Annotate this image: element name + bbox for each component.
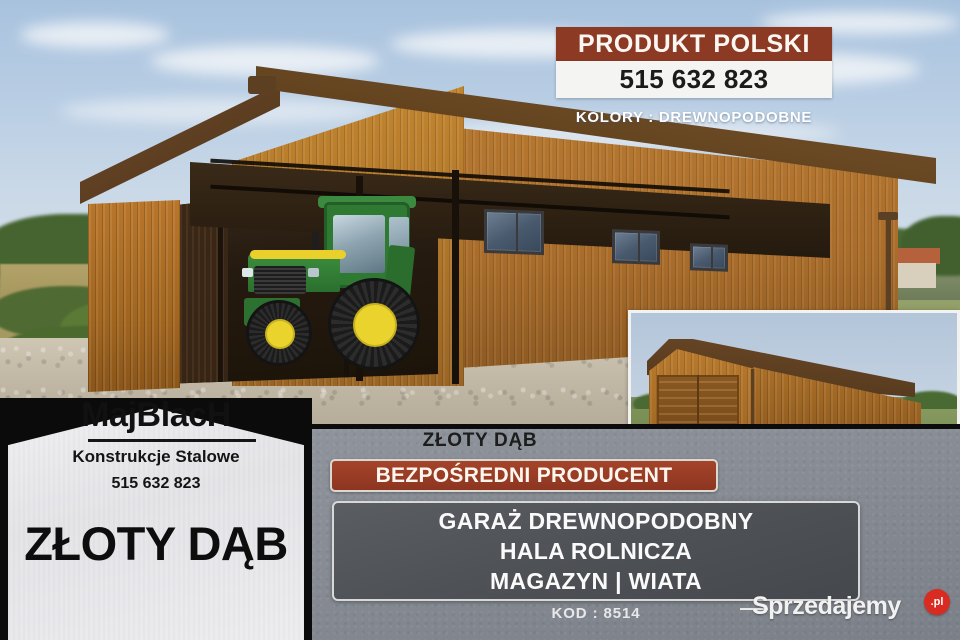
color-name-label: ZŁOTY DĄB: [330, 430, 630, 452]
window-mullion: [638, 233, 640, 261]
watermark-name: Sprzedajemy: [752, 592, 901, 621]
product-list-box: GARAŻ DREWNOPODOBNY HALA ROLNICZA MAGAZY…: [332, 501, 860, 601]
barn-window: [690, 243, 728, 271]
produkt-polski-banner: PRODUKT POLSKI: [556, 27, 832, 61]
window-mullion: [711, 247, 713, 268]
sliding-wood-panel: [88, 200, 180, 392]
produkt-polski-label: PRODUKT POLSKI: [578, 30, 810, 59]
support-post: [452, 170, 459, 384]
tractor-grille: [254, 266, 306, 294]
window-mullion: [516, 213, 518, 251]
tractor-headlight: [308, 268, 319, 277]
roof-ridge: [248, 76, 276, 94]
kolory-caption: KOLORY : DREWNOPODOBNE: [556, 106, 832, 128]
watermark-tld-label: .pl: [931, 596, 944, 608]
phone-banner[interactable]: 515 632 823: [556, 61, 832, 98]
tractor-headlight: [242, 268, 253, 277]
wheel-hub: [265, 319, 295, 349]
tractor-rear-wheel: [328, 278, 420, 370]
barn-window: [612, 229, 660, 265]
tractor-windshield: [333, 215, 385, 273]
product-line-3: MAGAZYN | WIATA: [490, 566, 702, 596]
color-headline: ZŁOTY DĄB: [0, 516, 312, 571]
brand-divider: [88, 439, 256, 442]
tractor-icon: [240, 196, 420, 374]
cloud-icon: [20, 22, 170, 48]
product-line-1: GARAŻ DREWNOPODOBNY: [439, 506, 754, 536]
direct-producer-badge: BEZPOŚREDNI PRODUCENT: [330, 459, 718, 492]
watermark-tld-badge: .pl: [924, 589, 950, 615]
sprzedajemy-watermark: Sprzedajemy .pl: [752, 590, 948, 626]
direct-producer-label: BEZPOŚREDNI PRODUCENT: [376, 464, 673, 488]
tractor-yellow-stripe: [250, 250, 346, 259]
product-line-2: HALA ROLNICZA: [500, 536, 692, 566]
brand-phone[interactable]: 515 632 823: [0, 475, 312, 493]
brand-name: MajBlacH: [0, 396, 312, 435]
phone-number-label: 515 632 823: [620, 64, 769, 95]
kolory-label: KOLORY : DREWNOPODOBNE: [576, 109, 812, 126]
brand-tagline: Konstrukcje Stalowe: [0, 447, 312, 467]
wheel-hub: [353, 303, 397, 347]
tractor-front-wheel: [246, 300, 312, 366]
barn-window: [484, 209, 544, 255]
advertisement-image: PRODUKT POLSKI 515 632 823 KOLORY : DREW…: [0, 0, 960, 640]
